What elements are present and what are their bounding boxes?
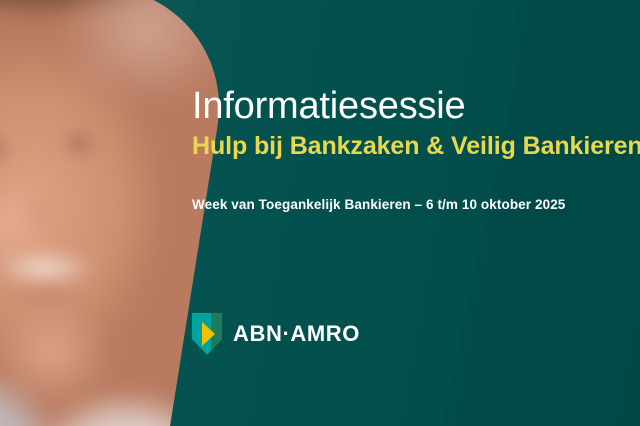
informatiesessie-banner: Informatiesessie Hulp bij Bankzaken & Ve… — [0, 0, 640, 426]
page-subtitle: Hulp bij Bankzaken & Veilig Bankieren — [192, 130, 640, 162]
page-title: Informatiesessie — [192, 84, 465, 128]
abn-amro-logo: ABN·AMRO — [192, 313, 360, 355]
abn-amro-wordmark: ABN·AMRO — [233, 323, 360, 345]
abn-amro-shield-icon — [192, 313, 222, 355]
content-block: Informatiesessie Hulp bij Bankzaken & Ve… — [192, 0, 632, 426]
event-dateline: Week van Toegankelijk Bankieren – 6 t/m … — [192, 195, 565, 215]
